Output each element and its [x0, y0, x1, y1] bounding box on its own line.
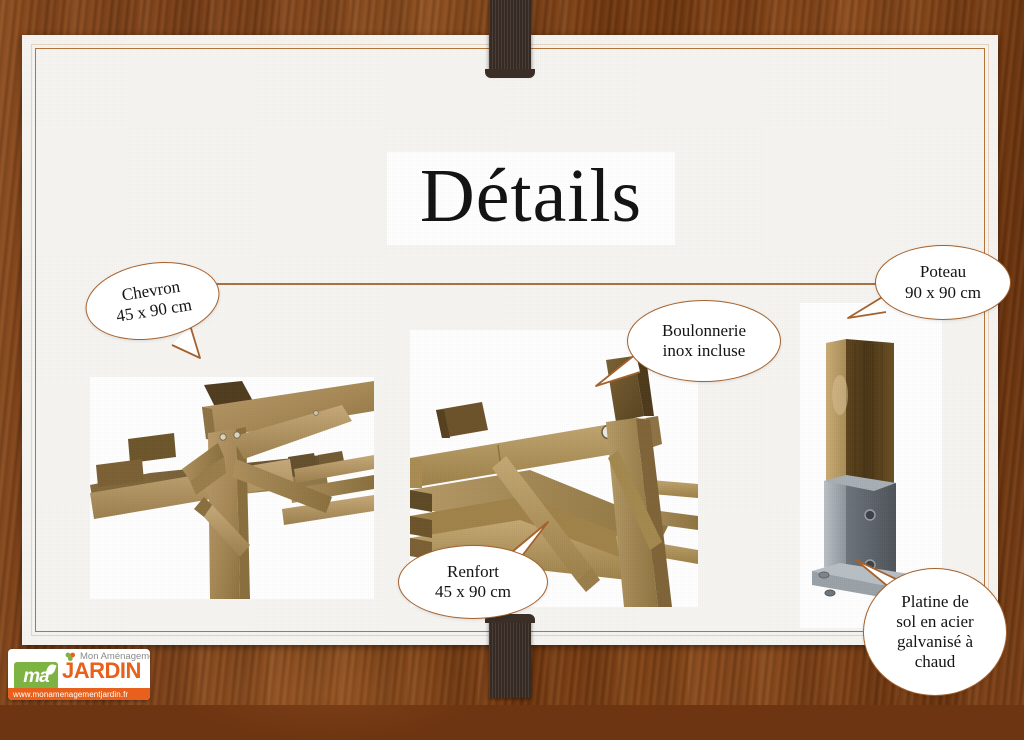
callout-platine-line4: chaud	[915, 652, 956, 672]
callout-renfort-line1: Renfort	[447, 562, 499, 582]
brand-logo[interactable]: ma Mon Aménagement JARDIN www.monamenage…	[8, 649, 150, 700]
callout-platine-line1: Platine de	[901, 592, 969, 612]
callout-renfort-line2: 45 x 90 cm	[435, 582, 511, 602]
callout-poteau[interactable]: Poteau 90 x 90 cm	[875, 245, 1011, 320]
callout-poteau-line1: Poteau	[920, 262, 966, 282]
callout-boulonnerie[interactable]: Boulonnerie inox incluse	[627, 300, 781, 382]
callout-boulonnerie-line2: inox incluse	[663, 341, 746, 361]
callout-platine[interactable]: Platine de sol en acier galvanisé à chau…	[863, 568, 1007, 696]
callout-platine-line3: galvanisé à	[897, 632, 973, 652]
callout-boulonnerie-line1: Boulonnerie	[662, 321, 746, 341]
logo-url-text: www.monamenagementjardin.fr	[8, 690, 128, 699]
logo-mark-text: ma	[23, 667, 48, 686]
callout-renfort[interactable]: Renfort 45 x 90 cm	[398, 545, 548, 619]
logo-url-bar: www.monamenagementjardin.fr	[8, 688, 150, 700]
callout-platine-line2: sol en acier	[896, 612, 973, 632]
logo-brand-name: JARDIN	[62, 660, 141, 682]
leaf-icon	[45, 663, 56, 676]
callout-poteau-line2: 90 x 90 cm	[905, 283, 981, 303]
logo-mark-box: ma	[14, 662, 58, 690]
